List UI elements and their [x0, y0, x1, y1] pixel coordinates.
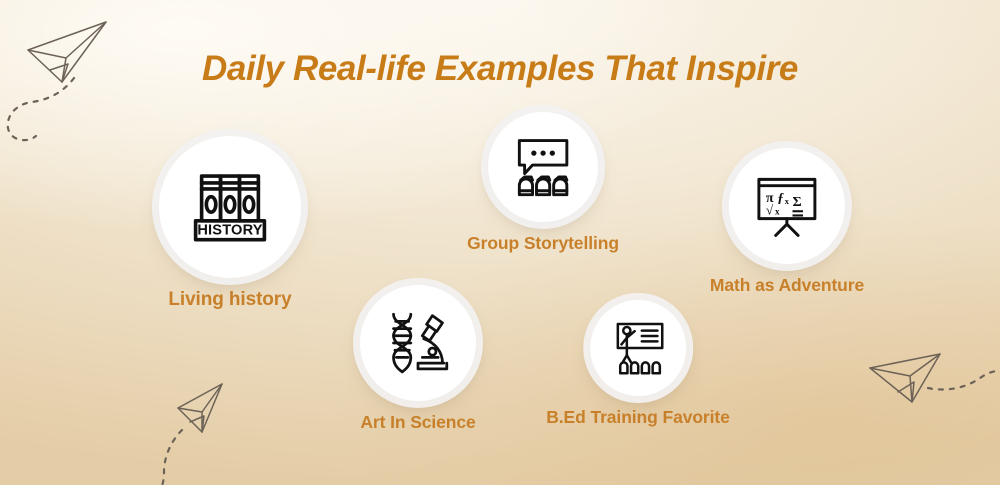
item-label: Group Storytelling: [467, 233, 619, 254]
item-label: Living history: [168, 289, 291, 311]
item-math-as-adventure[interactable]: π ƒ x √ x Σ Math as Adventure: [710, 148, 864, 296]
page-title: Daily Real-life Examples That Inspire: [0, 49, 1000, 88]
svg-text:√: √: [766, 202, 774, 217]
item-label: Math as Adventure: [710, 275, 864, 296]
paper-plane-bottom-left-icon: [150, 372, 270, 485]
infographic-canvas: Daily Real-life Examples That Inspire: [0, 0, 1000, 485]
item-art-in-science[interactable]: Art In Science: [360, 285, 476, 433]
item-label: Art In Science: [360, 412, 475, 433]
teacher-classroom-icon: [608, 318, 668, 378]
dna-microscope-icon: [382, 307, 454, 379]
svg-text:Σ: Σ: [793, 195, 802, 210]
item-living-history[interactable]: HISTORY Living history: [159, 136, 301, 311]
svg-text:x: x: [775, 206, 780, 216]
icon-bubble[interactable]: [590, 300, 686, 396]
icon-bubble[interactable]: [488, 112, 598, 222]
icon-bubble[interactable]: HISTORY: [159, 136, 301, 278]
svg-text:ƒ: ƒ: [777, 191, 784, 206]
item-label: B.Ed Training Favorite: [546, 407, 730, 428]
speech-bubble-people-icon: [510, 134, 576, 200]
icon-bubble[interactable]: [360, 285, 476, 401]
item-group-storytelling[interactable]: Group Storytelling: [467, 112, 619, 254]
svg-text:x: x: [785, 197, 790, 206]
math-whiteboard-icon: π ƒ x √ x Σ: [752, 171, 822, 241]
paper-plane-bottom-right-icon: [862, 340, 1000, 430]
icon-bubble[interactable]: π ƒ x √ x Σ: [729, 148, 845, 264]
history-calendar-icon: HISTORY: [187, 164, 273, 250]
svg-text:HISTORY: HISTORY: [197, 223, 262, 239]
item-bed-training-favorite[interactable]: B.Ed Training Favorite: [546, 300, 730, 428]
